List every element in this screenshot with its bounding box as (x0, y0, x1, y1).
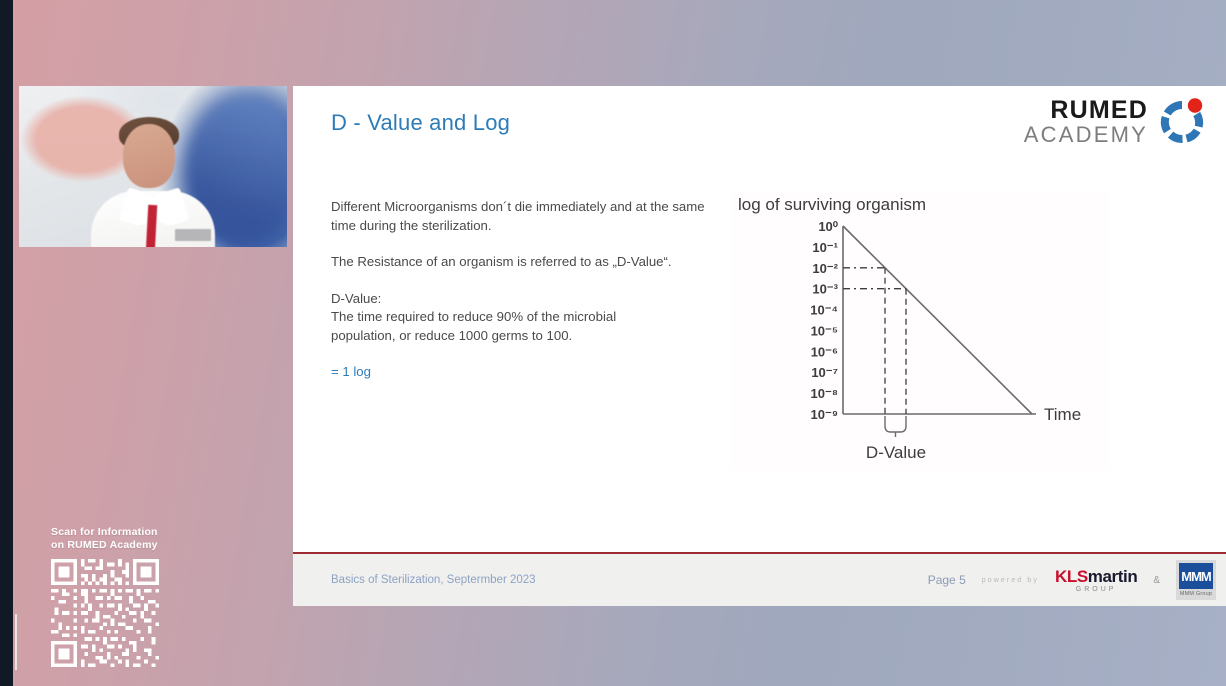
kls-martin-logo: KLSmartin GROUP (1055, 568, 1137, 593)
qr-caption: Scan for Information on RUMED Academy (51, 526, 284, 552)
kls-wordmark: KLSmartin (1055, 568, 1137, 585)
d-value-chart: log of surviving organism 10⁰10⁻¹10⁻²10⁻… (730, 190, 1110, 470)
academy-wordmark: RUMED ACADEMY (1024, 98, 1148, 146)
page-number: Page 5 (928, 573, 966, 587)
y-tick-label: 10⁻⁹ (811, 407, 839, 422)
academy-logo-line-1: RUMED (1024, 98, 1148, 123)
accent-equals-one-log: = 1 log (331, 363, 731, 382)
presenter-video-thumbnail[interactable] (19, 86, 287, 247)
y-tick-label: 10⁻⁵ (811, 323, 838, 338)
paragraph-intro: Different Microorganisms don´t die immed… (331, 198, 731, 235)
rumed-academy-logo: RUMED ACADEMY (1024, 96, 1208, 148)
chart-title: log of surviving organism (738, 195, 926, 214)
footer-right-group: Page 5 powered by KLSmartin GROUP & MMM … (928, 560, 1216, 600)
slide-viewer: Scan for Information on RUMED Academy (0, 0, 1226, 686)
y-tick-label: 10⁻⁸ (811, 386, 838, 401)
body-text: Different Microorganisms don´t die immed… (331, 198, 731, 382)
y-tick-label: 10⁻⁷ (811, 365, 838, 380)
kls-word-martin: martin (1088, 567, 1138, 586)
y-tick-label: 10⁻⁶ (811, 344, 838, 359)
qr-block: Scan for Information on RUMED Academy (34, 526, 284, 667)
left-edge-strip (0, 0, 13, 686)
kls-word-kls: KLS (1055, 567, 1088, 586)
y-tick-label: 10⁻² (812, 261, 838, 276)
powered-by-label: powered by (982, 577, 1039, 584)
mmm-logo-shell: MMM MMM Group (1176, 560, 1216, 600)
definition-line-1: The time required to reduce 90% of the m… (331, 308, 731, 327)
qr-caption-line-1: Scan for Information (51, 526, 284, 539)
y-tick-label: 10⁻³ (812, 282, 838, 297)
sidebar: Scan for Information on RUMED Academy (19, 86, 287, 247)
academy-logo-line-2: ACADEMY (1024, 124, 1148, 146)
ampersand: & (1153, 575, 1160, 586)
slide-footer: Basics of Sterilization, Septermber 2023… (293, 554, 1226, 606)
qr-caption-line-2: on RUMED Academy (51, 539, 284, 552)
d-value-label: D-Value (866, 443, 926, 462)
qr-code[interactable] (51, 559, 159, 667)
thumbnail-overlay (19, 86, 287, 247)
y-tick-label: 10⁻¹ (812, 240, 838, 255)
paragraph-resistance: The Resistance of an organism is referre… (331, 253, 731, 272)
mmm-caption: MMM Group (1179, 589, 1213, 600)
paragraph-definition: D-Value: The time required to reduce 90%… (331, 290, 731, 346)
kls-group-label: GROUP (1055, 586, 1137, 593)
definition-label: D-Value: (331, 290, 731, 309)
y-tick-label: 10⁰ (818, 219, 838, 234)
left-edge-marker (15, 614, 17, 670)
academy-ring-icon (1156, 96, 1208, 148)
page-title: D - Value and Log (331, 110, 510, 136)
x-axis-label: Time (1044, 405, 1081, 424)
footer-deck-title: Basics of Sterilization, Septermber 2023 (331, 574, 536, 586)
mmm-logo: MMM MMM Group (1179, 563, 1213, 600)
mmm-tile: MMM (1179, 563, 1213, 589)
definition-line-2: population, or reduce 1000 germs to 100. (331, 327, 731, 346)
y-tick-label: 10⁻⁴ (810, 303, 838, 318)
slide-content: D - Value and Log RUMED ACADEMY Differen… (293, 86, 1226, 606)
d-value-chart-svg: log of surviving organism 10⁰10⁻¹10⁻²10⁻… (730, 190, 1110, 470)
